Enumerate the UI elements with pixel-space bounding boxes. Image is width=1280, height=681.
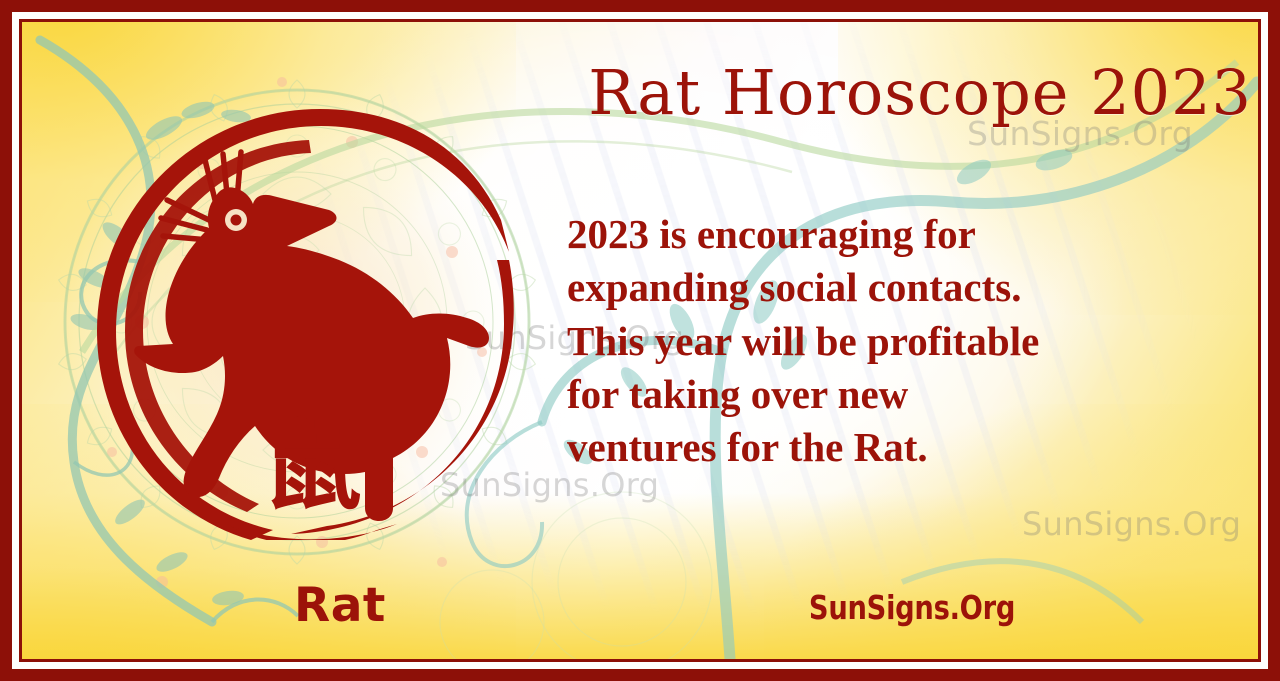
body-line: This year will be profitable bbox=[567, 315, 1227, 368]
watermark-bottom-right: SunSigns.Org bbox=[1022, 505, 1241, 543]
brand-label: SunSigns.Org bbox=[809, 588, 1015, 627]
body-line: 2023 is encouraging for bbox=[567, 208, 1227, 261]
horoscope-body: 2023 is encouraging for expanding social… bbox=[567, 208, 1227, 474]
chinese-character-rat: 鼠 bbox=[262, 407, 362, 524]
body-line: ventures for the Rat. bbox=[567, 421, 1227, 474]
body-line: expanding social contacts. bbox=[567, 261, 1227, 314]
zodiac-sign-label: Rat bbox=[294, 578, 386, 633]
page-title: Rat Horoscope 2023 bbox=[452, 60, 1252, 125]
horoscope-card: SunSigns.Org SunSigns.Org SunSigns.Org S… bbox=[0, 0, 1280, 681]
card-stage: SunSigns.Org SunSigns.Org SunSigns.Org S… bbox=[22, 22, 1258, 659]
body-line: for taking over new bbox=[567, 368, 1227, 421]
rat-emblem: 鼠 bbox=[77, 100, 517, 540]
